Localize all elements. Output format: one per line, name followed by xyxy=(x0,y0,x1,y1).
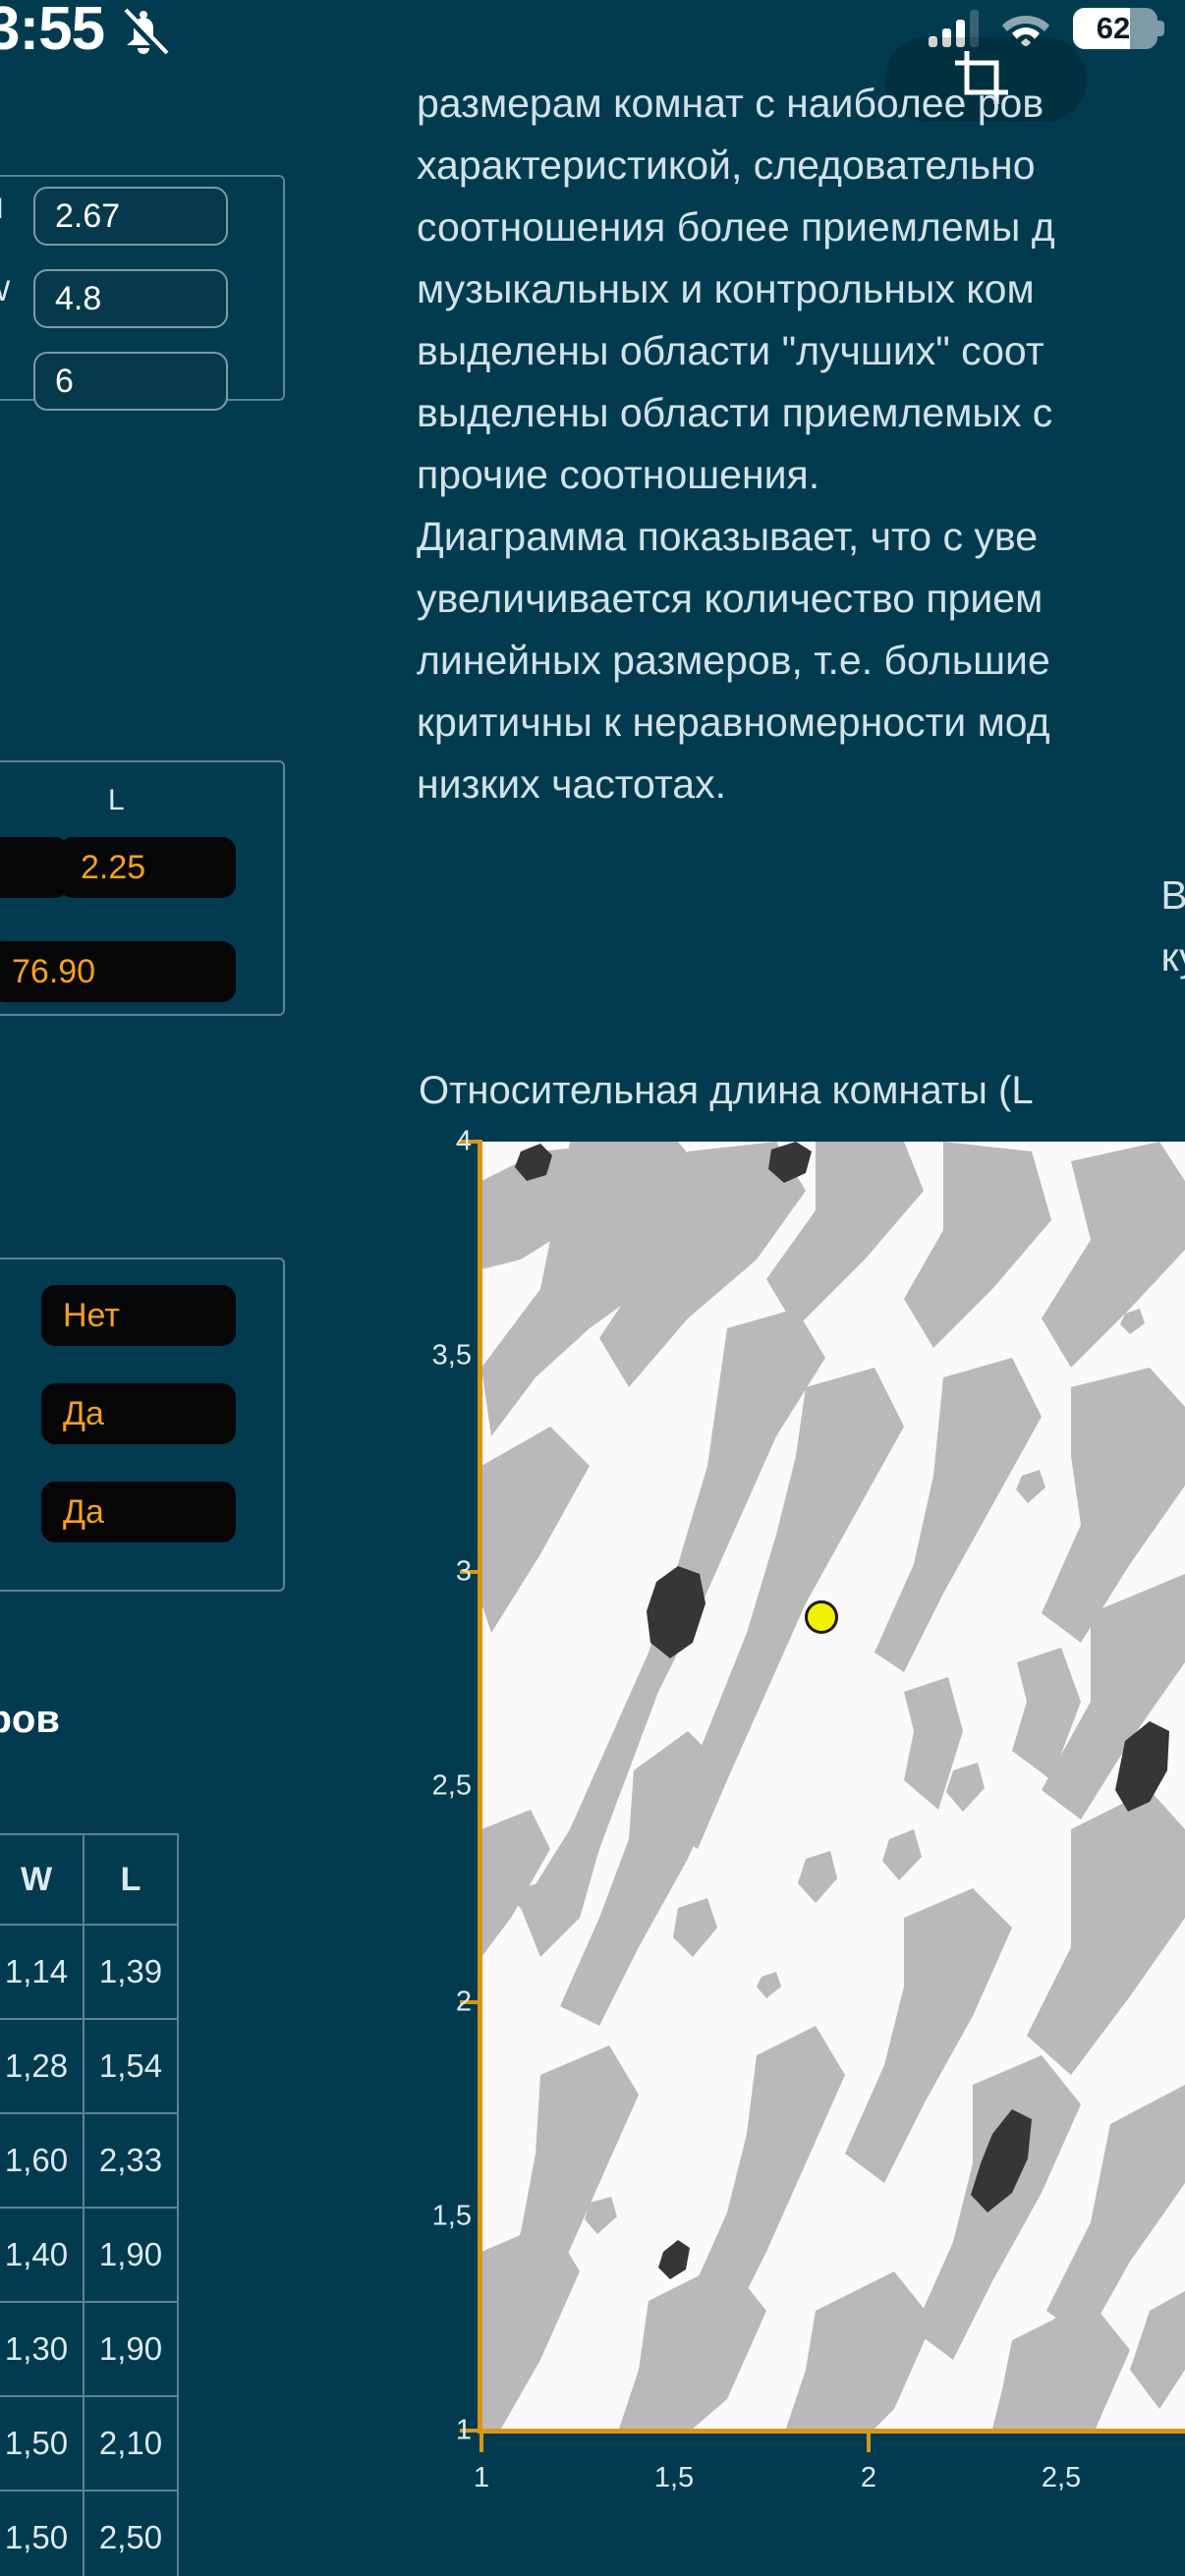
article-line: Диаграмма показывает, что с уве xyxy=(417,506,1185,568)
article-line: линейных размеров, т.е. большие xyxy=(417,630,1185,692)
cell-l: 2,10 xyxy=(84,2396,178,2491)
volume-value: 76.90 xyxy=(0,941,236,1002)
left-panel-column: H 2.67 W 4.8 L 6 W L 1.80 2.25 76.90 Нет… xyxy=(0,94,285,2576)
battery-indicator: 62 xyxy=(1073,8,1157,49)
cell-w: 1,60 xyxy=(0,2113,84,2208)
table-row: 1,00 1,28 1,54 xyxy=(0,2019,178,2113)
width-input[interactable]: 4.8 xyxy=(33,269,228,328)
current-room-marker xyxy=(805,1600,838,1634)
article-line: выделены области приемлемых с xyxy=(417,382,1185,444)
cell-w: 1,50 xyxy=(0,2396,84,2491)
cell-l: 1,90 xyxy=(84,2302,178,2396)
flag-row-1: Нет xyxy=(41,1285,236,1346)
ratio-results-panel: W L 1.80 2.25 76.90 xyxy=(0,760,285,1016)
chart-title: Относительная длина комнаты (L xyxy=(419,1069,1034,1113)
table-row: 1,00 1,14 1,39 xyxy=(0,1925,178,2019)
app-root: 3:55 62 xyxy=(0,0,1185,2576)
article-line: увеличивается количество прием xyxy=(417,568,1185,630)
chart-x-axis xyxy=(478,2429,1185,2434)
table-row: 1,00 1,60 2,33 xyxy=(0,2113,178,2208)
y-label-1: 1 xyxy=(456,2415,472,2447)
chart-region-map xyxy=(481,1142,1185,2429)
volume-note: Выбе куб.м xyxy=(417,865,1185,988)
label-width: W xyxy=(0,275,10,308)
chart-plot-area xyxy=(481,1142,1185,2429)
article-line: размерам комнат с наиболее ров xyxy=(417,73,1185,135)
article-line: прочие соотношения. xyxy=(417,444,1185,506)
article-line: музыкальных и контрольных ком xyxy=(417,258,1185,320)
y-label-3-5: 3,5 xyxy=(432,1340,472,1372)
y-label-2-5: 2,5 xyxy=(432,1770,472,1803)
status-bar: 3:55 62 xyxy=(0,0,1185,77)
flag-row-2: Да xyxy=(41,1383,236,1444)
label-height: H xyxy=(0,193,4,226)
table-row: 1,00 1,30 1,90 xyxy=(0,2302,178,2396)
criteria-flags-panel: Нет Да Да xyxy=(0,1258,285,1592)
length-input[interactable]: 6 xyxy=(33,352,228,411)
x-label-2: 2 xyxy=(861,2462,876,2494)
x-label-1: 1 xyxy=(474,2462,489,2494)
x-tick-1 xyxy=(480,2429,483,2452)
bell-slash-icon xyxy=(118,6,169,61)
x-label-1-5: 1,5 xyxy=(654,2462,694,2494)
article-line: низких частотах. xyxy=(417,754,1185,815)
article-line: характеристикой, следовательно xyxy=(417,135,1185,196)
cell-w: 1,40 xyxy=(0,2208,84,2302)
article-line: выделены области "лучших" соот xyxy=(417,320,1185,382)
cell-l: 2,50 xyxy=(84,2491,178,2576)
article-text: размерам комнат с наиболее ров характери… xyxy=(417,94,1185,815)
table-row: 1,00 1,50 2,10 xyxy=(0,2396,178,2491)
article-line: соотношения более приемлемы д xyxy=(417,196,1185,258)
volume-note-line-1: Выбе xyxy=(417,865,1185,926)
room-ratio-chart: 4 3,5 3 2,5 2 1,5 1 1 1,5 2 2,5 xyxy=(417,1130,1185,2576)
cell-w: 1,14 xyxy=(0,1925,84,2019)
x-tick-2 xyxy=(867,2429,871,2452)
status-clock: 3:55 xyxy=(0,0,104,64)
y-label-4: 4 xyxy=(456,1126,472,1158)
table-header-l: L xyxy=(84,1834,178,1925)
recommended-ratios-heading: азмеров xyxy=(0,1698,60,1742)
results-header-l: L xyxy=(108,784,125,817)
y-label-2: 2 xyxy=(456,1987,472,2019)
cell-l: 1,90 xyxy=(84,2208,178,2302)
ratio-l-value: 2.25 xyxy=(59,837,236,898)
y-label-3: 3 xyxy=(456,1556,472,1589)
recommended-ratios-table: H W L 1,00 1,14 1,39 1,00 1,28 1,54 1,00 xyxy=(0,1833,179,2576)
volume-note-line-2: куб.м xyxy=(417,926,1185,988)
table-row: 1,00 1,50 2,50 xyxy=(0,2491,178,2576)
cell-w: 1,28 xyxy=(0,2019,84,2113)
y-label-1-5: 1,5 xyxy=(432,2201,472,2233)
battery-level-label: 62 xyxy=(1073,11,1157,46)
table-header-w: W xyxy=(0,1834,84,1925)
table-header-row: H W L xyxy=(0,1834,178,1925)
article-line: критичны к неравномерности мод xyxy=(417,692,1185,754)
x-label-2-5: 2,5 xyxy=(1042,2462,1081,2494)
height-input[interactable]: 2.67 xyxy=(33,187,228,246)
dimensions-input-panel: H 2.67 W 4.8 L 6 xyxy=(0,175,285,401)
cell-l: 2,33 xyxy=(84,2113,178,2208)
cell-l: 1,39 xyxy=(84,1925,178,2019)
cell-w: 1,50 xyxy=(0,2491,84,2576)
cell-l: 1,54 xyxy=(84,2019,178,2113)
cell-w: 1,30 xyxy=(0,2302,84,2396)
chart-y-axis xyxy=(478,1140,482,2431)
table-row: 1,00 1,40 1,90 xyxy=(0,2208,178,2302)
flag-row-3: Да xyxy=(41,1482,236,1542)
